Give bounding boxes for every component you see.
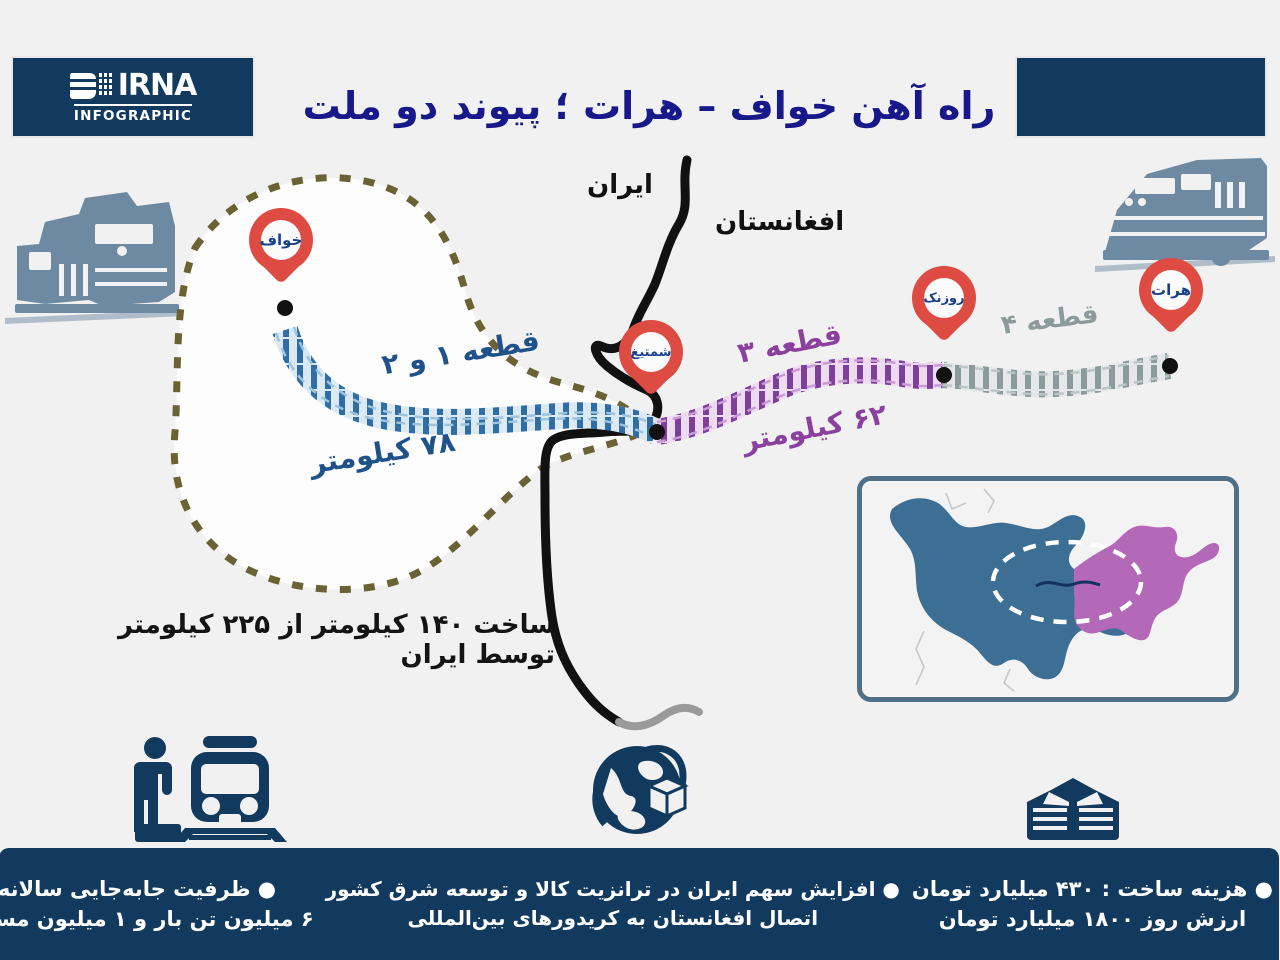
- construction-note: ساخت ۱۴۰ کیلومتر از ۲۲۵ کیلومتر توسط ایر…: [36, 610, 556, 670]
- station-dot-herat: [1163, 358, 1179, 374]
- route-map: [0, 0, 1280, 860]
- footer-bar: ● هزینه ساخت : ۴۳۰ میلیارد تومان ارزش رو…: [0, 848, 1280, 960]
- footer-cost-line2: ارزش روز ۱۸۰۰ میلیارد تومان: [913, 904, 1274, 934]
- footer-capacity-line1: ● ظرفیت جابه‌جایی سالانه: [0, 874, 315, 904]
- province-area: [175, 178, 648, 590]
- global-cargo-globe-icon: [588, 738, 692, 844]
- map-pin-herat[interactable]: هرات: [1140, 258, 1204, 344]
- pin-label-rozanak: روزنک: [925, 278, 965, 318]
- map-pin-rozanak[interactable]: روزنک: [913, 266, 977, 352]
- footer-transit-line2: اتصال افغانستان به کریدورهای بین‌المللی: [327, 904, 901, 933]
- station-dot-rozanak: [937, 367, 953, 383]
- country-label-afghanistan: افغانستان: [716, 207, 845, 237]
- footer-capacity-column: ● ظرفیت جابه‌جایی سالانه ۶ میلیون تن بار…: [0, 874, 321, 935]
- inset-map-svg: [863, 481, 1235, 697]
- footer-transit-column: ● افزایش سهم ایران در ترانزیت کالا و توس…: [321, 875, 907, 933]
- passenger-train-icon: [130, 736, 298, 848]
- station-dot-khaf: [278, 300, 294, 316]
- map-pin-shamtigh[interactable]: شمتیغ: [620, 320, 684, 406]
- infographic-canvas: IRNA INFOGRAPHIC راه آهن خواف – هرات ؛ پ…: [0, 0, 1280, 960]
- station-dot-shamtigh: [650, 424, 666, 440]
- pin-label-herat: هرات: [1152, 270, 1192, 310]
- footer-capacity-line2: ۶ میلیون تن بار و ۱ میلیون مسافر: [0, 904, 315, 934]
- inset-region-map: [858, 476, 1240, 702]
- money-stack-icon: [1024, 778, 1124, 844]
- map-pin-khaf[interactable]: خواف: [250, 208, 314, 294]
- locomotive-right-illustration: [1096, 158, 1276, 272]
- pin-label-shamtigh: شمتیغ: [632, 332, 672, 372]
- country-label-iran: ایران: [588, 170, 654, 200]
- footer-cost-column: ● هزینه ساخت : ۴۳۰ میلیارد تومان ارزش رو…: [907, 874, 1280, 935]
- footer-cost-line1: ● هزینه ساخت : ۴۳۰ میلیارد تومان: [913, 874, 1274, 904]
- pin-label-khaf: خواف: [262, 220, 302, 260]
- footer-transit-line1: ● افزایش سهم ایران در ترانزیت کالا و توس…: [327, 875, 901, 904]
- locomotive-left-illustration: [6, 192, 186, 324]
- border-tail-gradient: [620, 708, 700, 726]
